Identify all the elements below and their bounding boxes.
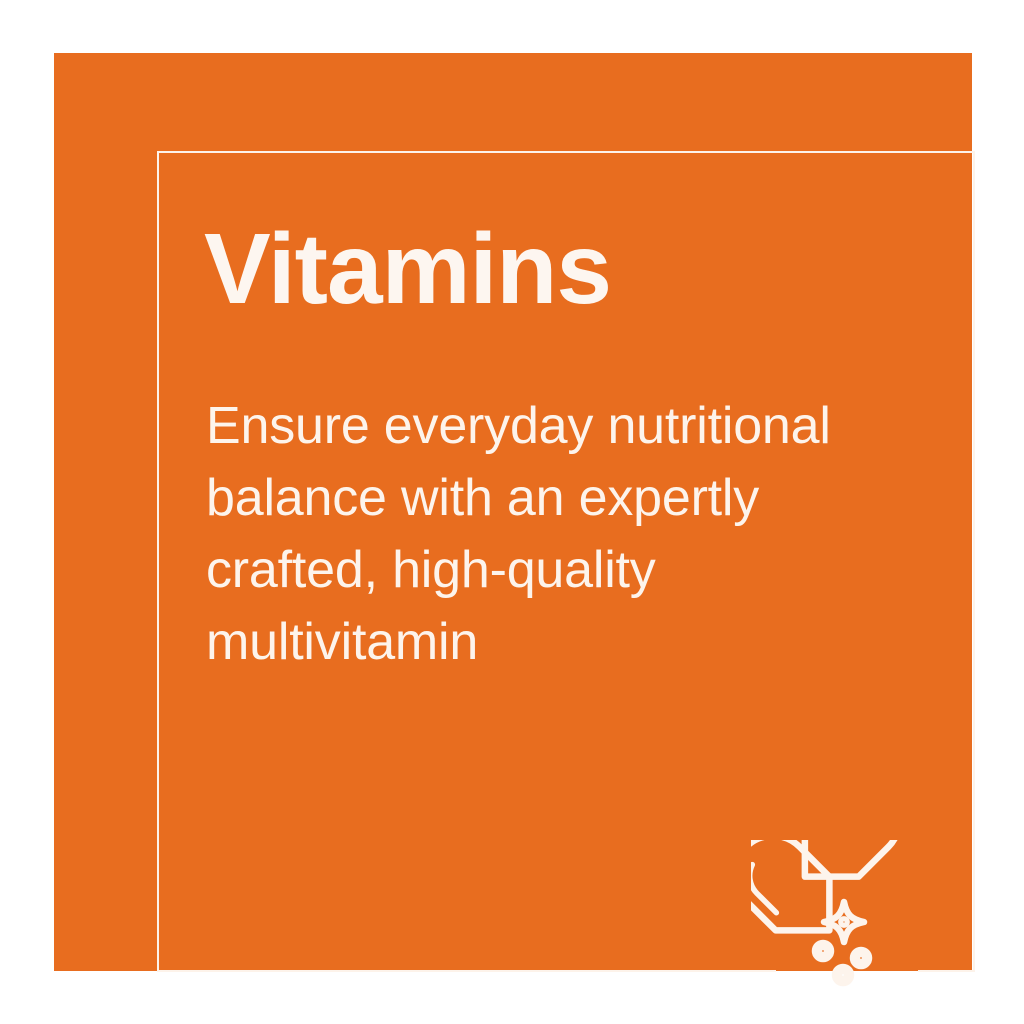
card-description-line: crafted, high-quality <box>206 534 966 606</box>
card-description-line: multivitamin <box>206 606 966 678</box>
card-description: Ensure everyday nutritional balance with… <box>206 390 966 678</box>
frame-bottom-edge-left-segment <box>157 970 776 972</box>
page-title: Vitamins <box>204 215 611 323</box>
dot-right-center <box>859 956 864 961</box>
crossed-capsules-sparkle-icon <box>751 840 937 990</box>
vitamins-promo-card: Vitamins Ensure everyday nutritional bal… <box>0 0 1024 1024</box>
sparkle-center-dot <box>841 919 846 924</box>
capsule-left-seam <box>751 865 788 913</box>
card-description-line: balance with an expertly <box>206 462 966 534</box>
capsule-icon-artwork <box>751 840 937 990</box>
frame-right-edge <box>973 151 975 972</box>
card-description-line: Ensure everyday nutritional <box>206 390 966 462</box>
orange-card-panel: Vitamins Ensure everyday nutritional bal… <box>54 53 972 971</box>
frame-top-edge <box>157 151 975 153</box>
dot-bottom-center <box>841 973 846 978</box>
frame-left-edge <box>157 151 159 972</box>
dot-left-center <box>821 949 826 954</box>
